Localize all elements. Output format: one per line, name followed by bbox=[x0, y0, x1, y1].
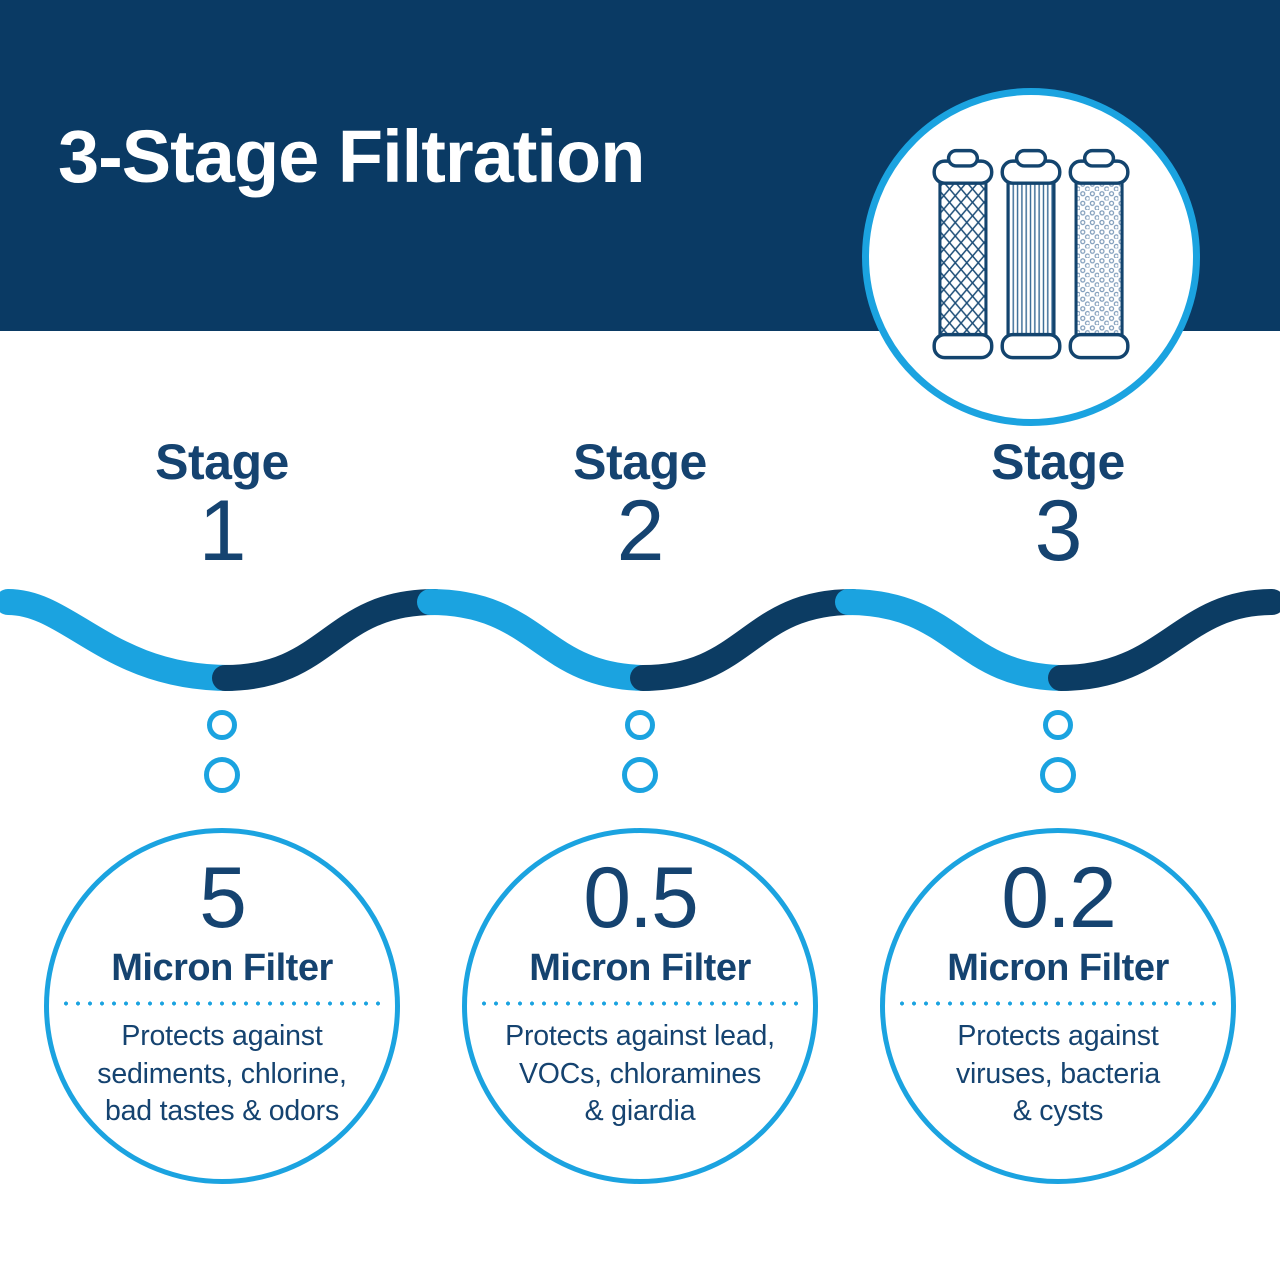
description-line: viruses, bacteria bbox=[903, 1056, 1213, 1094]
stage-description-2: Protects against lead, VOCs, chloramines… bbox=[485, 1018, 795, 1131]
wave-segment-1 bbox=[8, 602, 230, 678]
cartridge-granular-icon bbox=[1070, 151, 1128, 358]
cartridge-mesh-icon bbox=[934, 151, 992, 358]
description-line: sediments, chlorine, bbox=[67, 1056, 377, 1094]
micron-label-1: Micron Filter bbox=[111, 949, 333, 989]
stage-number-2: 2 bbox=[490, 489, 790, 573]
page-title: 3-Stage Filtration bbox=[58, 120, 644, 194]
stage-label-2: Stage 2 bbox=[490, 436, 790, 573]
stage-number-1: 1 bbox=[72, 489, 372, 573]
wave-segment-6 bbox=[1061, 602, 1272, 678]
stage-word-2: Stage bbox=[490, 436, 790, 489]
micron-value-3: 0.2 bbox=[1001, 855, 1115, 941]
description-line: Protects against bbox=[67, 1018, 377, 1056]
filtration-infographic: 3-Stage Filtration bbox=[0, 0, 1280, 1280]
three-filter-cartridges-icon bbox=[869, 95, 1193, 419]
description-line: VOCs, chloramines bbox=[485, 1056, 795, 1094]
dotted-divider-2 bbox=[480, 1001, 800, 1006]
stage-label-1: Stage 1 bbox=[72, 436, 372, 573]
water-wave-divider bbox=[0, 575, 1280, 695]
wave-segment-5 bbox=[848, 602, 1066, 678]
micron-label-3: Micron Filter bbox=[947, 949, 1169, 989]
wave-segment-4 bbox=[643, 602, 853, 678]
stage-word-3: Stage bbox=[908, 436, 1208, 489]
cartridge-pleated-icon bbox=[1002, 151, 1060, 358]
connector-dots-1 bbox=[192, 710, 252, 793]
stage-circle-2: 0.5 Micron Filter Protects against lead,… bbox=[462, 828, 818, 1184]
connector-dot-small-1 bbox=[207, 710, 237, 740]
wave-segment-3 bbox=[430, 602, 648, 678]
description-line: bad tastes & odors bbox=[67, 1093, 377, 1131]
description-line: Protects against lead, bbox=[485, 1018, 795, 1056]
stage-description-1: Protects against sediments, chlorine, ba… bbox=[67, 1018, 377, 1131]
connector-dot-small-2 bbox=[625, 710, 655, 740]
micron-value-2: 0.5 bbox=[583, 855, 697, 941]
description-line: & giardia bbox=[485, 1093, 795, 1131]
connector-dot-small-3 bbox=[1043, 710, 1073, 740]
connector-dot-large-1 bbox=[204, 757, 240, 793]
connector-dot-large-2 bbox=[622, 757, 658, 793]
connector-dots-2 bbox=[610, 710, 670, 793]
connector-dot-large-3 bbox=[1040, 757, 1076, 793]
description-line: & cysts bbox=[903, 1093, 1213, 1131]
micron-label-2: Micron Filter bbox=[529, 949, 751, 989]
wave-segment-2 bbox=[225, 602, 435, 678]
dotted-divider-1 bbox=[62, 1001, 382, 1006]
stage-number-3: 3 bbox=[908, 489, 1208, 573]
stage-word-1: Stage bbox=[72, 436, 372, 489]
stage-circle-1: 5 Micron Filter Protects against sedimen… bbox=[44, 828, 400, 1184]
stage-description-3: Protects against viruses, bacteria & cys… bbox=[903, 1018, 1213, 1131]
filter-cartridges-icon-circle bbox=[862, 88, 1200, 426]
micron-value-1: 5 bbox=[199, 855, 245, 941]
description-line: Protects against bbox=[903, 1018, 1213, 1056]
stage-label-3: Stage 3 bbox=[908, 436, 1208, 573]
stage-circle-3: 0.2 Micron Filter Protects against virus… bbox=[880, 828, 1236, 1184]
wave-svg bbox=[0, 575, 1280, 695]
connector-dots-3 bbox=[1028, 710, 1088, 793]
dotted-divider-3 bbox=[898, 1001, 1218, 1006]
